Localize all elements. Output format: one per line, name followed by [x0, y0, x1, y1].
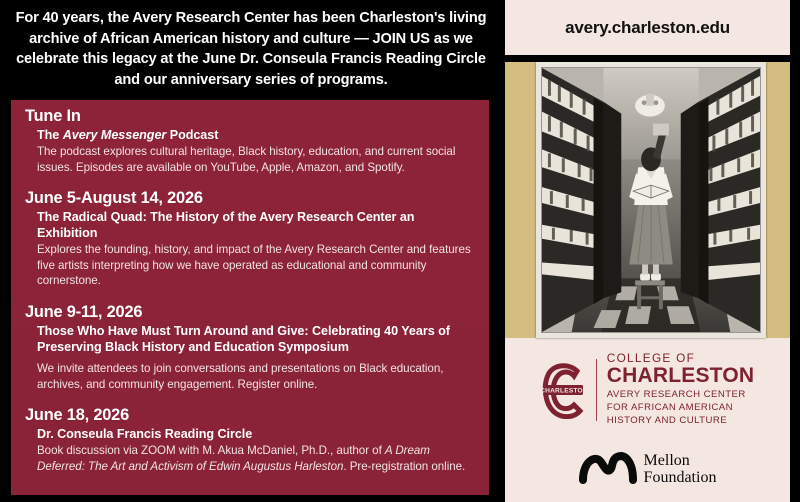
- right-column: avery.charleston.edu: [502, 0, 800, 502]
- cofc-line-college-of: COLLEGE OF: [607, 353, 754, 365]
- event-date: June 9-11, 2026: [25, 302, 475, 322]
- website-url-text: avery.charleston.edu: [565, 18, 730, 38]
- event-item-radical-quad: June 5-August 14, 2026 The Radical Quad:…: [25, 188, 475, 289]
- event-date: Tune In: [25, 106, 475, 126]
- cofc-subline-1: AVERY RESEARCH CENTER: [607, 389, 754, 402]
- mellon-m-wave-icon: [579, 450, 637, 484]
- event-description-pre: Book discussion via ZOOM with M. Akua Mc…: [37, 444, 385, 457]
- archival-photo-frame: [536, 62, 766, 338]
- mellon-wave-mark-icon: [579, 450, 637, 489]
- right-lower-panel: CHARLESTON COLLEGE OF CHARLESTON AVERY R…: [505, 62, 790, 502]
- event-description: The podcast explores cultural heritage, …: [25, 144, 475, 175]
- event-date: June 5-August 14, 2026: [25, 188, 475, 208]
- event-item-symposium: June 9-11, 2026 Those Who Have Must Turn…: [25, 302, 475, 392]
- svg-text:CHARLESTON: CHARLESTON: [541, 388, 587, 395]
- left-column: For 40 years, the Avery Research Center …: [0, 0, 502, 502]
- event-title-italic: Avery Messenger: [63, 128, 167, 142]
- event-date: June 18, 2026: [25, 405, 475, 425]
- mellon-line-2: Foundation: [644, 469, 717, 486]
- cofc-subline-2: FOR AFRICAN AMERICAN: [607, 402, 754, 415]
- cofc-line-charleston: CHARLESTON: [607, 365, 754, 386]
- event-title-pre: The: [37, 128, 63, 142]
- event-item-tune-in: Tune In The Avery Messenger Podcast The …: [25, 106, 475, 175]
- mellon-foundation-logo: Mellon Foundation: [505, 444, 790, 494]
- events-panel: Tune In The Avery Messenger Podcast The …: [11, 100, 489, 495]
- spacer: [25, 394, 475, 405]
- event-title: The Radical Quad: The History of the Ave…: [25, 209, 475, 241]
- cofc-cougar-c-mark-icon: CHARLESTON: [541, 361, 587, 419]
- event-title: The Avery Messenger Podcast: [25, 127, 475, 143]
- website-url-bar[interactable]: avery.charleston.edu: [505, 0, 790, 55]
- cofc-logo-divider: [596, 359, 597, 421]
- event-title: Those Who Have Must Turn Around and Give…: [25, 323, 475, 355]
- event-description-post: . Pre-registration online.: [343, 460, 465, 473]
- archival-photo: [541, 67, 761, 333]
- event-title: Dr. Conseula Francis Reading Circle: [25, 426, 475, 442]
- headline-text: For 40 years, the Avery Research Center …: [8, 8, 494, 91]
- spacer: [25, 177, 475, 188]
- mellon-wordmark: Mellon Foundation: [644, 452, 717, 487]
- college-of-charleston-logo: CHARLESTON COLLEGE OF CHARLESTON AVERY R…: [505, 344, 790, 436]
- event-item-reading-circle: June 18, 2026 Dr. Conseula Francis Readi…: [25, 405, 475, 474]
- event-description: We invite attendees to join conversation…: [25, 361, 475, 392]
- library-stacks-photo-illustration: [542, 68, 760, 332]
- event-description: Book discussion via ZOOM with M. Akua Mc…: [25, 443, 475, 474]
- spacer: [25, 291, 475, 302]
- cofc-c-shield-icon: CHARLESTON: [541, 361, 587, 419]
- cofc-logo-inner: CHARLESTON COLLEGE OF CHARLESTON AVERY R…: [541, 353, 754, 428]
- cofc-subline-3: HISTORY AND CULTURE: [607, 415, 754, 428]
- cofc-logo-wordmark: COLLEGE OF CHARLESTON AVERY RESEARCH CEN…: [607, 353, 754, 428]
- event-title-post: Podcast: [166, 128, 218, 142]
- mellon-logo-inner: Mellon Foundation: [579, 450, 717, 489]
- event-description: Explores the founding, history, and impa…: [25, 242, 475, 289]
- mellon-line-1: Mellon: [644, 452, 717, 469]
